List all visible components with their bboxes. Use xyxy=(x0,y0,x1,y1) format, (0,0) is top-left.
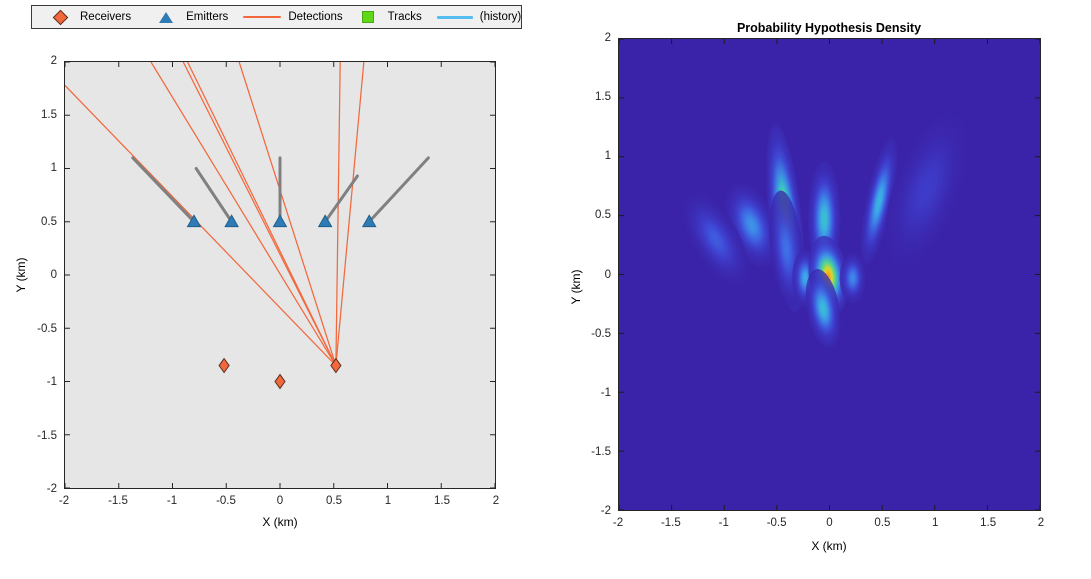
rt-xticks-0: -2 xyxy=(613,517,623,529)
rt-yticks-8: -2 xyxy=(601,505,611,517)
lt-xticks-7: 1.5 xyxy=(434,495,450,507)
scenario-plot-canvas xyxy=(65,62,495,488)
lt-yticks-4: 0 xyxy=(51,269,57,281)
legend-item-history: (history) xyxy=(434,6,522,28)
lt-xticks-0: -2 xyxy=(59,495,69,507)
legend-item-detections: Detections xyxy=(240,6,342,28)
rt-yticks-1: 1.5 xyxy=(595,91,611,103)
rt-yticks-5: -0.5 xyxy=(591,328,611,340)
legend-item-emitters: Emitters xyxy=(155,6,228,28)
lt-yticks-0: 2 xyxy=(51,55,57,67)
lt-yticks-6: -1 xyxy=(47,376,57,388)
left-plot-ylabel: Y (km) xyxy=(14,257,28,292)
lt-xticks-5: 0.5 xyxy=(326,495,342,507)
history-line-marker-icon xyxy=(434,16,476,19)
plot-legend: Receivers Emitters Detections Tracks (hi… xyxy=(31,5,522,29)
square-marker-icon xyxy=(357,11,379,23)
legend-label-tracks: Tracks xyxy=(388,11,422,23)
emitter-markers xyxy=(188,215,376,226)
rt-xticks-2: -1 xyxy=(719,517,729,529)
lt-yticks-1: 1.5 xyxy=(41,109,57,121)
lt-xticks-3: -0.5 xyxy=(216,495,236,507)
rt-xticks-1: -1.5 xyxy=(661,517,681,529)
lt-xticks-6: 1 xyxy=(385,495,391,507)
legend-label-receivers: Receivers xyxy=(80,11,131,23)
lt-xticks-8: 2 xyxy=(493,495,499,507)
rt-yticks-3: 0.5 xyxy=(595,209,611,221)
triangle-marker-icon xyxy=(155,12,177,23)
right-plot-xlabel: X (km) xyxy=(811,539,846,553)
line-marker-icon xyxy=(240,16,284,19)
lt-yticks-3: 0.5 xyxy=(41,216,57,228)
phd-plot-axes xyxy=(618,38,1041,511)
rt-xticks-5: 0.5 xyxy=(874,517,890,529)
lt-xticks-1: -1.5 xyxy=(108,495,128,507)
lt-yticks-7: -1.5 xyxy=(37,430,57,442)
detection-rays xyxy=(65,62,364,366)
lt-yticks-8: -2 xyxy=(47,483,57,495)
track-history-lines xyxy=(133,158,429,222)
rt-xticks-7: 1.5 xyxy=(980,517,996,529)
lt-yticks-2: 1 xyxy=(51,162,57,174)
rt-xticks-4: 0 xyxy=(826,517,832,529)
rt-yticks-6: -1 xyxy=(601,387,611,399)
left-plot-xlabel: X (km) xyxy=(262,515,297,529)
diamond-marker-icon xyxy=(49,12,71,23)
legend-label-emitters: Emitters xyxy=(186,11,228,23)
rt-xticks-3: -0.5 xyxy=(767,517,787,529)
rt-yticks-7: -1.5 xyxy=(591,446,611,458)
rt-yticks-2: 1 xyxy=(605,150,611,162)
legend-label-history: (history) xyxy=(480,11,522,23)
legend-label-detections: Detections xyxy=(288,11,342,23)
lt-xticks-4: 0 xyxy=(277,495,283,507)
legend-item-tracks: Tracks xyxy=(357,6,422,28)
lt-xticks-2: -1 xyxy=(167,495,177,507)
lt-yticks-5: -0.5 xyxy=(37,323,57,335)
rt-xticks-6: 1 xyxy=(932,517,938,529)
right-plot-ylabel: Y (km) xyxy=(569,269,583,304)
legend-item-receivers: Receivers xyxy=(49,6,131,28)
rt-yticks-0: 2 xyxy=(605,32,611,44)
receiver-markers xyxy=(219,359,341,389)
phd-plot-title: Probability Hypothesis Density xyxy=(737,21,921,35)
rt-xticks-8: 2 xyxy=(1038,517,1044,529)
rt-yticks-4: 0 xyxy=(605,269,611,281)
scenario-plot-axes xyxy=(64,61,496,489)
phd-heatmap-canvas xyxy=(619,39,1040,510)
